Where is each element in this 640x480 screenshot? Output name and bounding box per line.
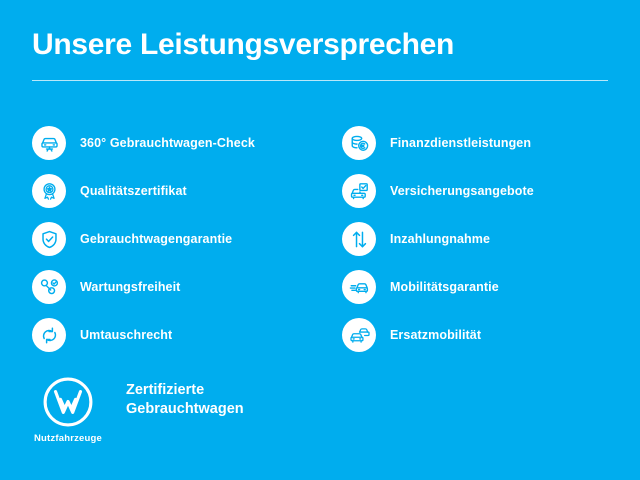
exchange-arrows-icon xyxy=(32,318,66,352)
title-divider xyxy=(32,80,608,81)
up-down-arrows-icon xyxy=(342,222,376,256)
promises-slide: Unsere Leistungsversprechen 360° Gebrauc… xyxy=(0,0,640,480)
car-inspection-icon xyxy=(32,126,66,160)
promise-label: Gebrauchtwagengarantie xyxy=(80,232,232,246)
promise-label: 360° Gebrauchtwagen-Check xyxy=(80,136,255,150)
promise-item-trade-in: Inzahlungnahme xyxy=(342,215,608,263)
header: Unsere Leistungsversprechen xyxy=(32,28,608,81)
car-speed-icon xyxy=(342,270,376,304)
promise-item-maintenance-free: Wartungsfreiheit xyxy=(32,263,298,311)
promise-label: Finanzdienstleistungen xyxy=(390,136,531,150)
vw-roundel-icon xyxy=(42,376,94,428)
promise-item-quality-certificate: Qualitätszertifikat xyxy=(32,167,298,215)
promise-item-360-check: 360° Gebrauchtwagen-Check xyxy=(32,119,298,167)
promise-item-return-right: Umtauschrecht xyxy=(32,311,298,359)
car-document-check-icon xyxy=(342,174,376,208)
brand-subtitle: Nutzfahrzeuge xyxy=(34,433,102,444)
brand-lockup: Nutzfahrzeuge Zertifizierte Gebrauchtwag… xyxy=(32,376,244,444)
brand-claim: Zertifizierte Gebrauchtwagen xyxy=(126,376,244,419)
promise-label: Wartungsfreiheit xyxy=(80,280,180,294)
promises-grid: 360° Gebrauchtwagen-Check Finanzdienstle… xyxy=(32,119,608,359)
promise-label: Ersatzmobilität xyxy=(390,328,481,342)
brand-claim-line-1: Zertifizierte xyxy=(126,381,244,400)
promise-label: Inzahlungnahme xyxy=(390,232,490,246)
brand-mark: Nutzfahrzeuge xyxy=(32,376,104,444)
shield-check-icon xyxy=(32,222,66,256)
promise-label: Versicherungsangebote xyxy=(390,184,534,198)
promise-item-insurance-offers: Versicherungsangebote xyxy=(342,167,608,215)
brand-claim-line-2: Gebrauchtwagen xyxy=(126,400,244,419)
promise-item-replacement-mobility: Ersatzmobilität xyxy=(342,311,608,359)
page-title: Unsere Leistungsversprechen xyxy=(32,28,608,63)
promise-label: Mobilitätsgarantie xyxy=(390,280,499,294)
two-cars-icon xyxy=(342,318,376,352)
wrench-check-icon xyxy=(32,270,66,304)
promise-label: Umtauschrecht xyxy=(80,328,172,342)
promise-label: Qualitätszertifikat xyxy=(80,184,187,198)
promise-item-mobility-guarantee: Mobilitätsgarantie xyxy=(342,263,608,311)
promise-item-financial-services: Finanzdienstleistungen xyxy=(342,119,608,167)
coins-euro-icon xyxy=(342,126,376,160)
award-rosette-icon xyxy=(32,174,66,208)
promise-item-warranty: Gebrauchtwagengarantie xyxy=(32,215,298,263)
